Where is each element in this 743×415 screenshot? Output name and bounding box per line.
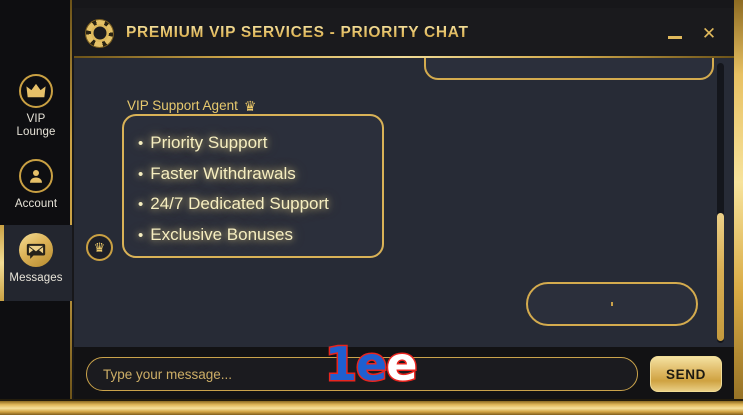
sidebar-item-account[interactable]: Account: [0, 155, 72, 217]
message-input[interactable]: [86, 357, 638, 391]
window-title: PREMIUM VIP SERVICES - PRIORITY CHAT: [126, 24, 469, 42]
avatar: ♛: [86, 234, 113, 261]
message-bubble-benefits[interactable]: Priority Support Faster Withdrawals 24/7…: [122, 114, 384, 258]
scrollbar-thumb[interactable]: [717, 213, 724, 341]
bubble-dot: [611, 302, 613, 306]
close-icon[interactable]: ✕: [700, 24, 718, 42]
list-item: Exclusive Bonuses: [138, 220, 382, 251]
list-item: 24/7 Dedicated Support: [138, 189, 382, 220]
chat-window: PREMIUM VIP SERVICES - PRIORITY CHAT ✕ V…: [74, 8, 734, 401]
window-titlebar: PREMIUM VIP SERVICES - PRIORITY CHAT ✕: [74, 8, 734, 58]
minimize-button[interactable]: [666, 24, 684, 42]
message-composer: SEND: [74, 347, 734, 401]
sidebar-item-messages[interactable]: Messages: [0, 225, 72, 301]
benefits-list: Priority Support Faster Withdrawals 24/7…: [138, 128, 382, 250]
frame-bottom-edge: [0, 401, 743, 415]
scrollbar-track[interactable]: [717, 63, 724, 343]
message-scroll-area[interactable]: VIP Support Agent ♛ ♛ Priority Support F…: [74, 58, 734, 347]
sidebar-item-label: Messages: [9, 272, 62, 285]
crown-icon: ♛: [244, 99, 257, 113]
list-item: Priority Support: [138, 128, 382, 159]
window-controls: ✕: [666, 24, 724, 42]
crown-icon: [19, 74, 53, 108]
application-root: VIP Lounge Account Messages: [0, 0, 743, 415]
list-item: Faster Withdrawals: [138, 159, 382, 190]
message-bubble-partial-top[interactable]: [424, 58, 714, 80]
crown-icon: ♛: [94, 241, 106, 254]
sidebar-item-label: Account: [15, 198, 57, 211]
frame-bottom-cap: [0, 399, 743, 401]
user-icon: [19, 159, 53, 193]
envelope-icon: [19, 233, 53, 267]
sidebar-item-vip-lounge[interactable]: VIP Lounge: [0, 70, 72, 140]
send-button[interactable]: SEND: [650, 356, 722, 392]
sidebar-item-label: VIP Lounge: [17, 113, 56, 139]
agent-name-label: VIP Support Agent ♛: [127, 98, 256, 113]
frame-right-edge: [734, 0, 743, 415]
poker-chip-icon: [86, 20, 113, 47]
message-bubble-empty[interactable]: [526, 282, 698, 326]
left-sidebar: VIP Lounge Account Messages: [0, 0, 72, 401]
